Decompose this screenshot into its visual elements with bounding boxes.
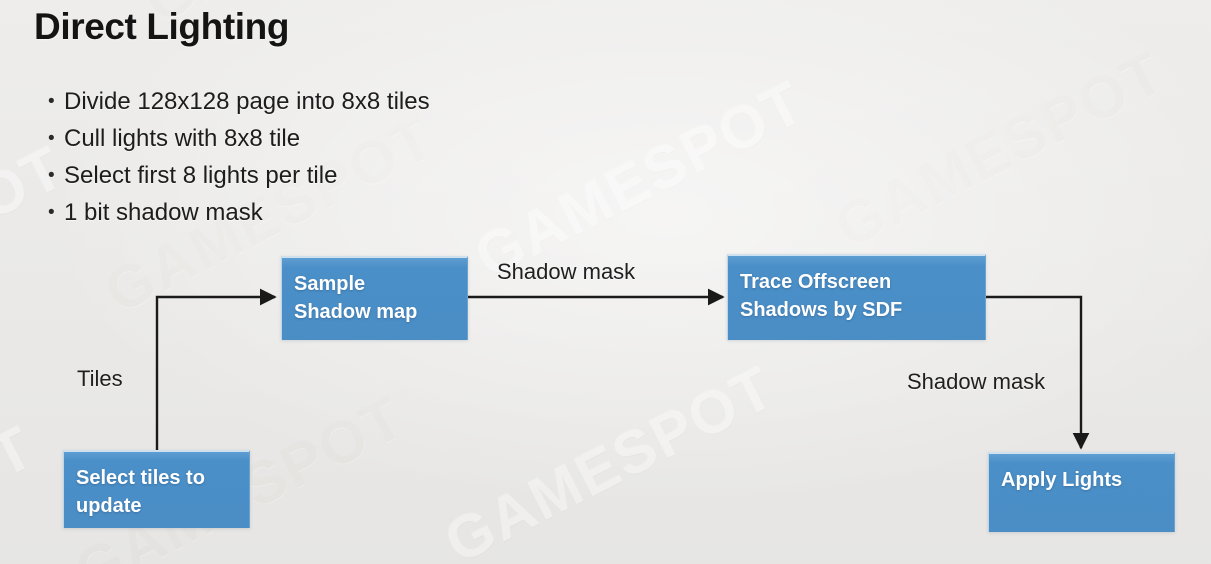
list-item: • 1 bit shadow mask <box>46 197 686 229</box>
list-item-label: Cull lights with 8x8 tile <box>64 123 300 154</box>
list-item: • Select first 8 lights per tile <box>46 160 686 192</box>
list-item: • Cull lights with 8x8 tile <box>46 123 686 155</box>
node-line-1: Trace Offscreen <box>740 268 985 296</box>
edge-label-tiles: Tiles <box>77 366 123 392</box>
bullet-marker-icon: • <box>46 160 64 191</box>
edge-tiles-path <box>157 297 275 452</box>
node-line-2: Shadows by SDF <box>740 296 985 324</box>
page-title: Direct Lighting <box>34 6 289 48</box>
node-line-1: Apply Lights <box>1001 466 1174 494</box>
edge-label-shadow-mask-right: Shadow mask <box>907 369 1045 395</box>
list-item-label: 1 bit shadow mask <box>64 197 263 228</box>
diagram-node-apply-lights[interactable]: Apply Lights <box>988 452 1175 532</box>
bullet-marker-icon: • <box>46 86 64 117</box>
bullet-marker-icon: • <box>46 123 64 154</box>
list-item-label: Divide 128x128 page into 8x8 tiles <box>64 86 430 117</box>
bullet-marker-icon: • <box>46 197 64 228</box>
slide-canvas: GAMESPOT GAMESPOT GAMESPOT GAMESPOT GAME… <box>0 0 1211 564</box>
list-item-label: Select first 8 lights per tile <box>64 160 337 191</box>
node-line-1: Select tiles to <box>76 464 249 492</box>
diagram-node-sample-shadow-map[interactable]: Sample Shadow map <box>281 256 468 340</box>
list-item: • Divide 128x128 page into 8x8 tiles <box>46 86 686 118</box>
node-line-1: Sample <box>294 270 467 298</box>
bullet-list: • Divide 128x128 page into 8x8 tiles • C… <box>46 86 686 234</box>
edge-label-shadow-mask-top: Shadow mask <box>497 259 635 285</box>
diagram-node-trace-offscreen-sdf[interactable]: Trace Offscreen Shadows by SDF <box>727 254 986 340</box>
node-line-2: Shadow map <box>294 298 467 326</box>
diagram-node-select-tiles[interactable]: Select tiles to update <box>63 450 250 528</box>
node-line-2: update <box>76 492 249 520</box>
